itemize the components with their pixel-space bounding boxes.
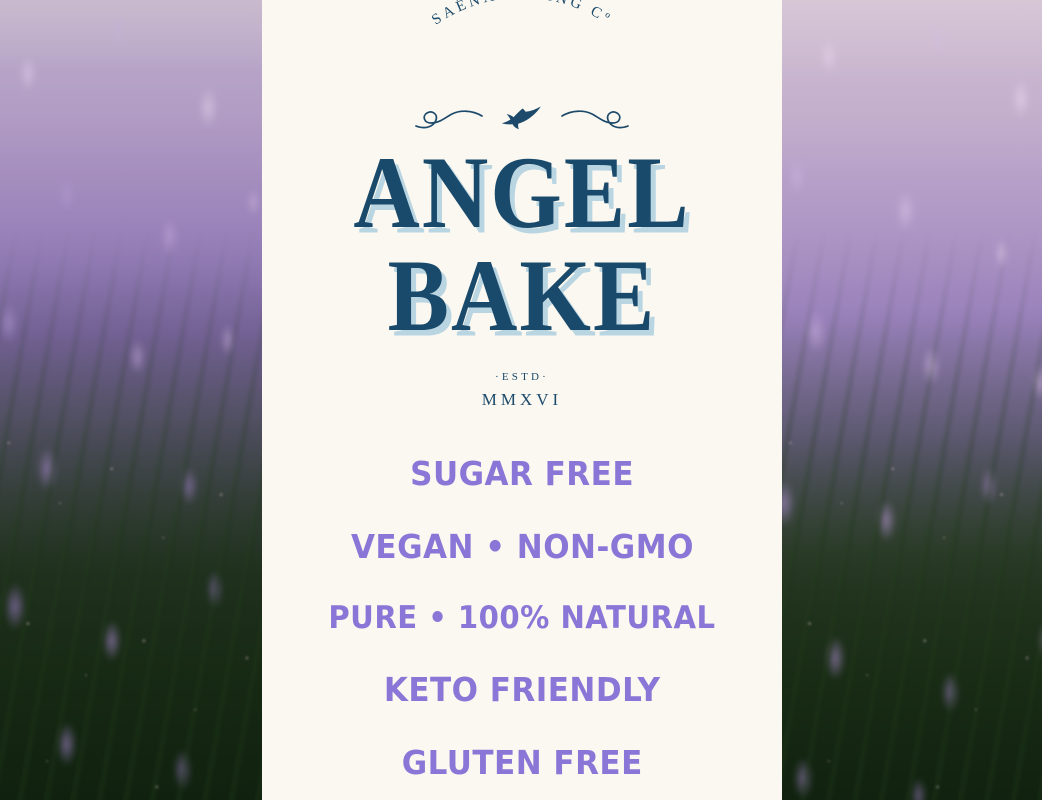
established-block: ·ESTD· MMXVI: [482, 371, 562, 410]
established-label: ·ESTD·: [482, 371, 562, 383]
brand-arc-text: SAËNA BAKING Cº: [429, 0, 615, 28]
claim-item: VEGAN • NON-GMO: [351, 527, 694, 566]
lavender-photo-right: [782, 0, 1042, 800]
lavender-photo-left: [0, 0, 262, 800]
claim-item: SUGAR FREE: [410, 454, 634, 493]
wordmark: ANGEL BAKE: [353, 144, 690, 335]
claim-item: GLUTEN FREE: [401, 743, 642, 782]
claim-item: KETO FRIENDLY: [384, 670, 661, 709]
center-panel: SAËNA BAKING Cº ANGEL BAKE ·ESTD· MMXVI …: [262, 0, 782, 800]
claims-list: SUGAR FREE VEGAN • NON-GMO PURE • 100% N…: [262, 454, 782, 782]
wordmark-line-1: ANGEL: [353, 144, 690, 242]
product-poster: SAËNA BAKING Cº ANGEL BAKE ·ESTD· MMXVI …: [0, 0, 1042, 800]
blossom-speckle-left: [0, 0, 262, 800]
blossom-speckle-right: [782, 0, 1042, 800]
established-year: MMXVI: [482, 390, 562, 410]
brand-arc: SAËNA BAKING Cº: [357, 44, 687, 118]
claim-item: PURE • 100% NATURAL: [328, 600, 715, 636]
wordmark-line-2: BAKE: [353, 247, 690, 345]
